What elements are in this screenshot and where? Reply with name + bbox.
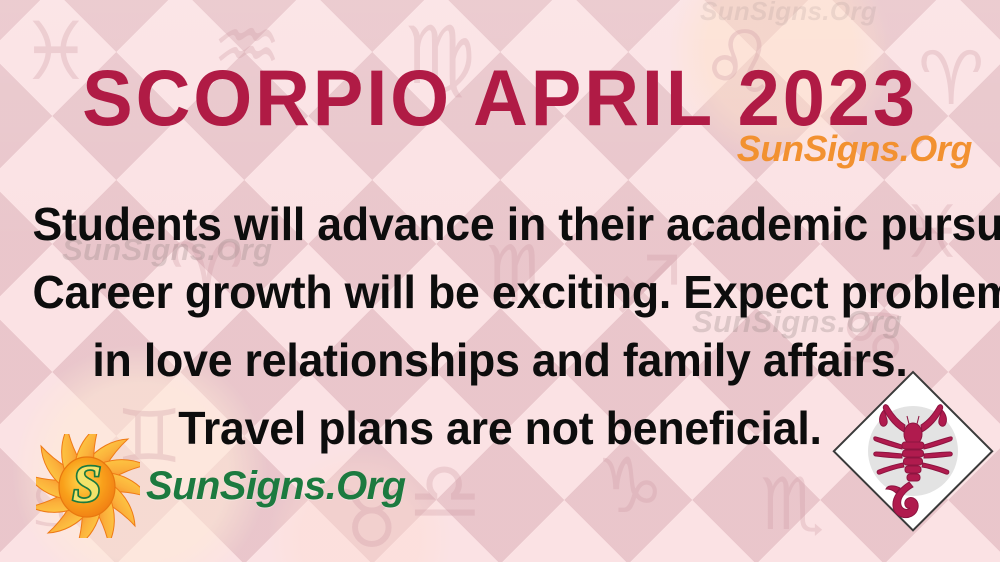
svg-text:S: S (73, 456, 102, 513)
page-title: SCORPIO APRIL 2023 (20, 58, 980, 137)
header-brand-label: SunSigns.Org (737, 128, 972, 170)
footer-logo-group[interactable]: S SunSigns.Org (36, 434, 405, 538)
zodiac-glyph-icon: ♏ (760, 468, 825, 540)
horoscope-line: Career growth will be exciting. Expect p… (32, 258, 967, 326)
watermark-top: SunSigns.Org (700, 0, 877, 27)
zodiac-glyph-icon: ♎ (408, 452, 482, 534)
horoscope-line: in love relationships and family affairs… (32, 326, 967, 394)
sun-logo-icon: S (36, 434, 140, 538)
horoscope-line: Students will advance in their academic … (32, 190, 967, 258)
scorpio-emblem (830, 368, 996, 534)
footer-brand-label: SunSigns.Org (146, 464, 405, 509)
horoscope-poster: ♈♉♊♋♌♍♎♏♐♑♒♓♈♋♏♓ SunSigns.Org SunSigns.O… (0, 0, 1000, 562)
